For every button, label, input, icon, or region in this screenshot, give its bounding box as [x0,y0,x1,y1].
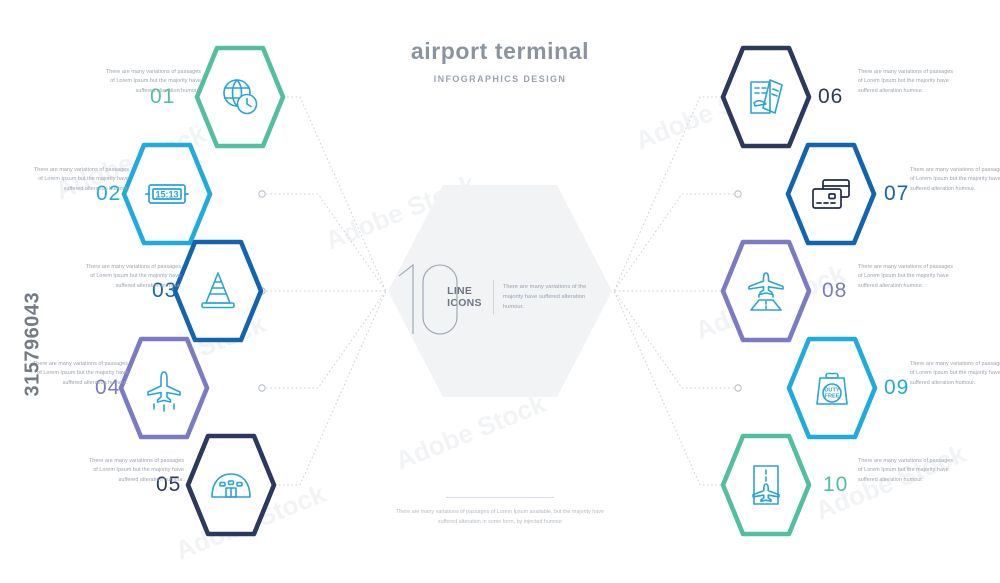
footer-text: There are many variations of passages of… [395,508,605,527]
item-number-07: 07 [884,183,909,204]
hexagon-item-02[interactable]: 15:13 [121,142,213,246]
svg-text:FREE: FREE [825,394,840,400]
item-description-03: There are many variations of passages of… [85,263,181,291]
item-number-09: 09 [884,377,909,398]
item-number-10: 10 [823,474,848,495]
connector-dot-02 [259,191,265,197]
hexagon-item-04[interactable] [118,336,210,440]
stock-id-watermark: 315796043 [22,287,45,397]
connector-04 [262,291,386,388]
duty-free-bag-icon: DUTY FREE [808,364,856,412]
item-number-08: 08 [822,280,847,301]
globe-clock-icon [216,73,264,121]
page-title: airport terminal [0,38,1000,65]
item-description-10: There are many variations of passages of… [858,457,954,485]
item-description-06: There are many variations of passages of… [858,68,954,96]
connector-02 [262,194,386,291]
infographic-canvas: Adobe Stock Adobe Stock Adobe Stock Adob… [0,0,1000,583]
center-number [389,254,463,340]
item-description-01: There are many variations of passages of… [105,68,201,96]
hexagon-item-01[interactable] [194,45,286,149]
connector-05 [262,291,386,485]
boarding-pass-icon [742,73,790,121]
center-divider [493,280,494,314]
center-content: LINE ICONS There are many variations of … [386,183,614,399]
hexagon-item-03[interactable] [172,239,264,343]
item-description-08: There are many variations of passages of… [858,263,954,291]
item-description-05: There are many variations of passages of… [88,457,184,485]
hexagon-item-08[interactable] [720,239,812,343]
center-description: There are many variations of the majorit… [503,282,607,313]
connector-dot-07 [735,191,741,197]
item-description-04: There are many variations of passages of… [32,360,128,388]
hexagon-item-07[interactable] [785,142,877,246]
traffic-cone-icon [194,267,242,315]
connector-dot-09 [735,385,741,391]
item-description-02: There are many variations of passages of… [33,166,129,194]
svg-text:Adobe Stock: Adobe Stock [391,388,550,476]
hexagon-item-09[interactable]: DUTY FREE [786,336,878,440]
plane-runway-icon [742,267,790,315]
footer-divider [446,497,554,498]
credit-cards-icon [807,170,855,218]
connector-dot-04 [259,385,265,391]
airplane-takeoff-icon [140,364,188,412]
item-number-06: 06 [818,86,843,107]
footer: There are many variations of passages of… [0,497,1000,527]
hexagon-item-06[interactable] [720,45,812,149]
item-description-07: There are many variations of passages of… [910,166,1000,194]
svg-text:15:13: 15:13 [155,190,178,200]
digital-clock-icon: 15:13 [143,170,191,218]
item-description-09: There are many variations of passages of… [910,360,1000,388]
